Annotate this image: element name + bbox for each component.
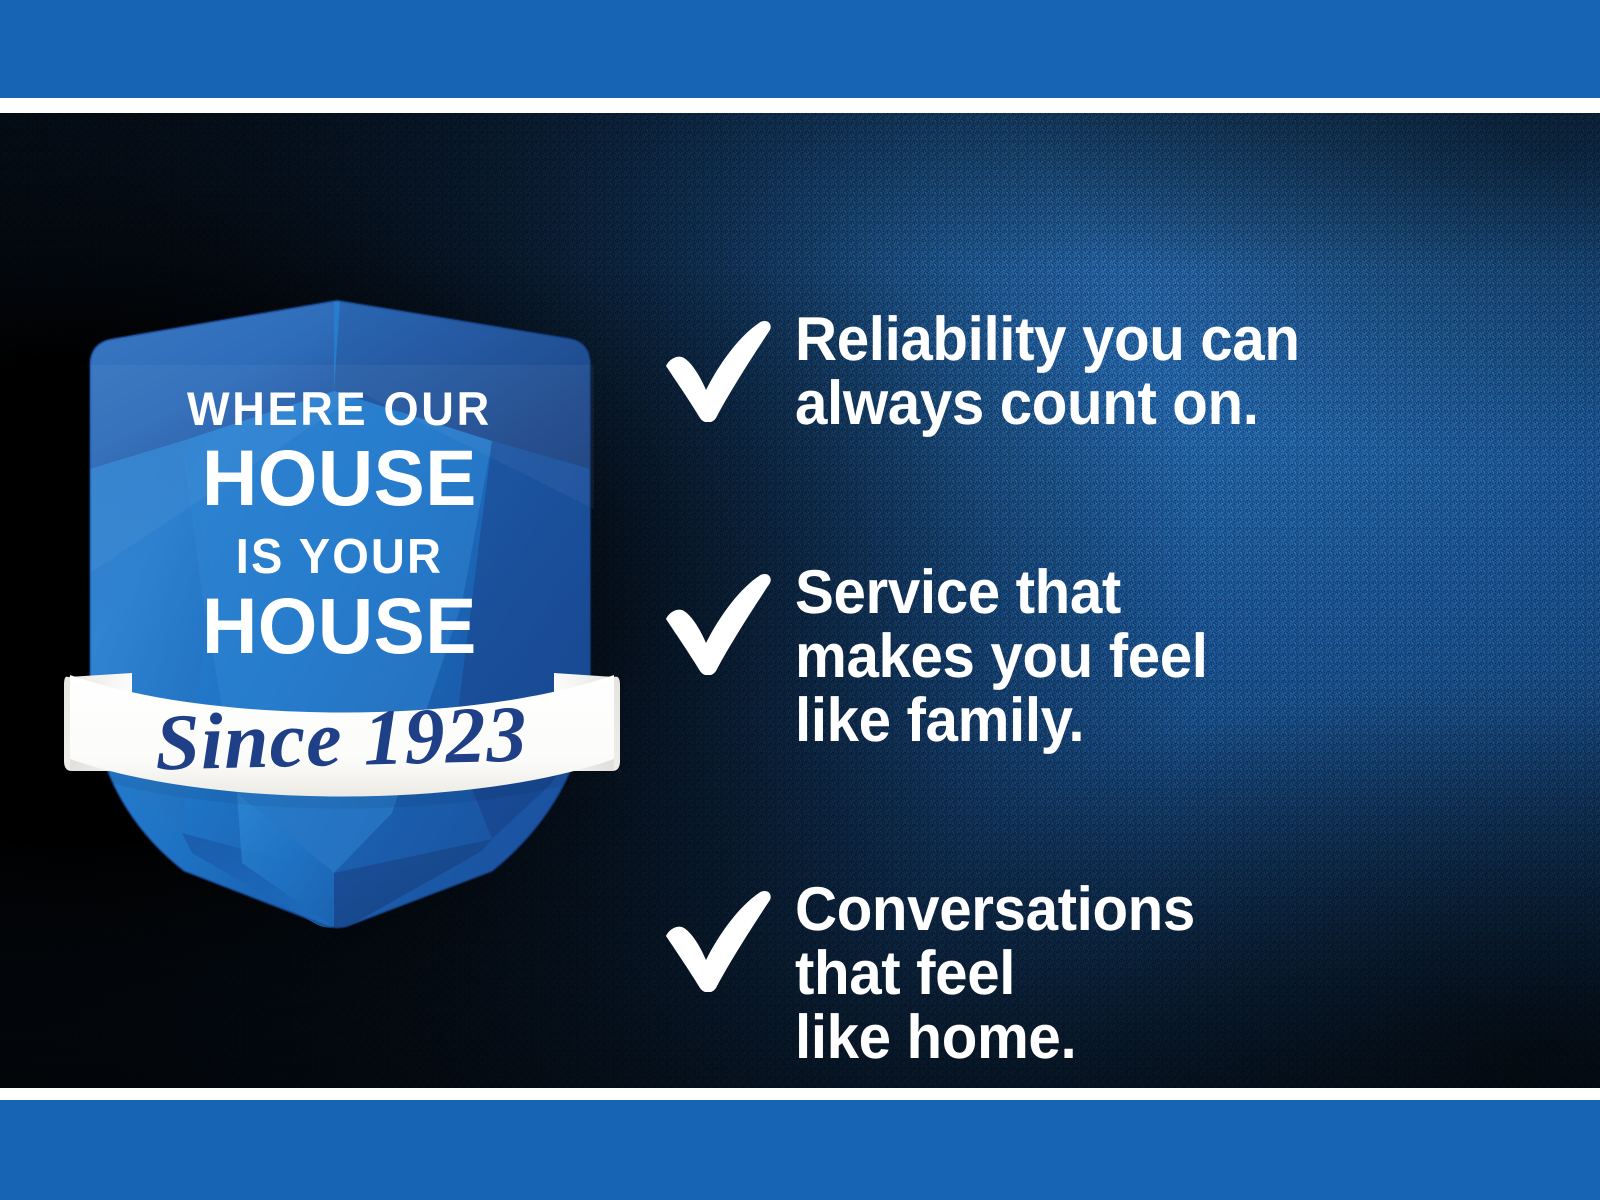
tagline-line-4: HOUSE xyxy=(202,583,477,670)
shield-badge: WHERE OUR HOUSE IS YOUR HOUSE Since 1923 xyxy=(62,273,622,933)
top-brand-bar xyxy=(0,0,1600,98)
checkmark-icon xyxy=(660,561,795,675)
tagline-line-2: HOUSE xyxy=(202,435,477,522)
checkmark-icon xyxy=(660,308,795,422)
promo-graphic: WHERE OUR HOUSE IS YOUR HOUSE Since 1923 xyxy=(0,0,1600,1200)
list-item: Reliability you can always count on. xyxy=(660,308,1332,436)
list-item-text: Conversations that feel like home. xyxy=(795,878,1195,1070)
list-item: Conversations that feel like home. xyxy=(660,878,1220,1070)
checkmark-icon xyxy=(660,878,795,992)
tagline-line-1: WHERE OUR xyxy=(187,382,492,435)
benefits-list: Reliability you can always count on. Ser… xyxy=(660,208,1560,1038)
banner-text: Since 1923 xyxy=(154,690,528,787)
tagline-line-3: IS YOUR xyxy=(236,530,443,584)
bottom-brand-bar xyxy=(0,1100,1600,1200)
main-stage: WHERE OUR HOUSE IS YOUR HOUSE Since 1923 xyxy=(0,113,1600,1088)
list-item-text: Service that makes you feel like family. xyxy=(795,561,1208,753)
list-item: Service that makes you feel like family. xyxy=(660,561,1234,753)
list-item-text: Reliability you can always count on. xyxy=(795,308,1300,436)
